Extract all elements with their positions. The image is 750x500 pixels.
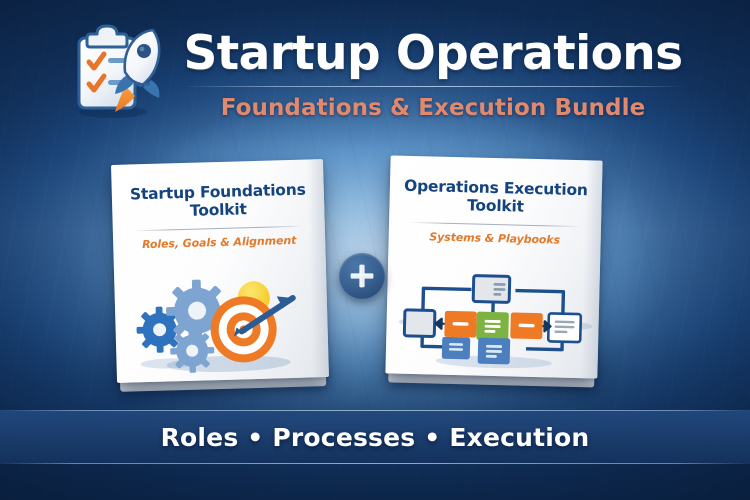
book-title-line2: Toolkit [190,200,247,220]
page-title: Startup Operations [183,30,682,77]
book-title-line1: Operations Execution [404,177,588,199]
book-subtitle: Roles, Goals & Alignment [127,233,311,251]
gears-target-lightbulb-arrow-icon [114,263,329,381]
book-title-divider [133,226,305,232]
title-divider [183,86,682,87]
feature-banner: Roles • Processes • Execution [0,410,750,464]
book-startup-foundations-toolkit[interactable]: Startup Foundations Toolkit Roles, Goals… [111,159,329,383]
book-operations-execution-toolkit[interactable]: Operations Execution Toolkit Systems & P… [385,155,602,378]
book-title-divider [409,222,581,227]
plus-icon [339,253,385,299]
clipboard-rocket-icon [67,20,171,124]
book-subtitle: Systems & Playbooks [403,230,587,247]
book-title: Operations Execution Toolkit [403,178,588,218]
banner-text: Roles • Processes • Execution [161,423,590,452]
book-title: Startup Foundations Toolkit [126,181,311,222]
header: Startup Operations Foundations & Executi… [0,18,750,138]
book-title-line2: Toolkit [467,196,524,215]
flowchart-diagram-icon [385,259,600,376]
promo-graphic: Startup Operations Foundations & Executi… [0,0,750,500]
page-subtitle: Foundations & Execution Bundle [183,95,682,121]
book-cover: Operations Execution Toolkit Systems & P… [385,155,602,378]
book-cover: Startup Foundations Toolkit Roles, Goals… [111,159,329,383]
